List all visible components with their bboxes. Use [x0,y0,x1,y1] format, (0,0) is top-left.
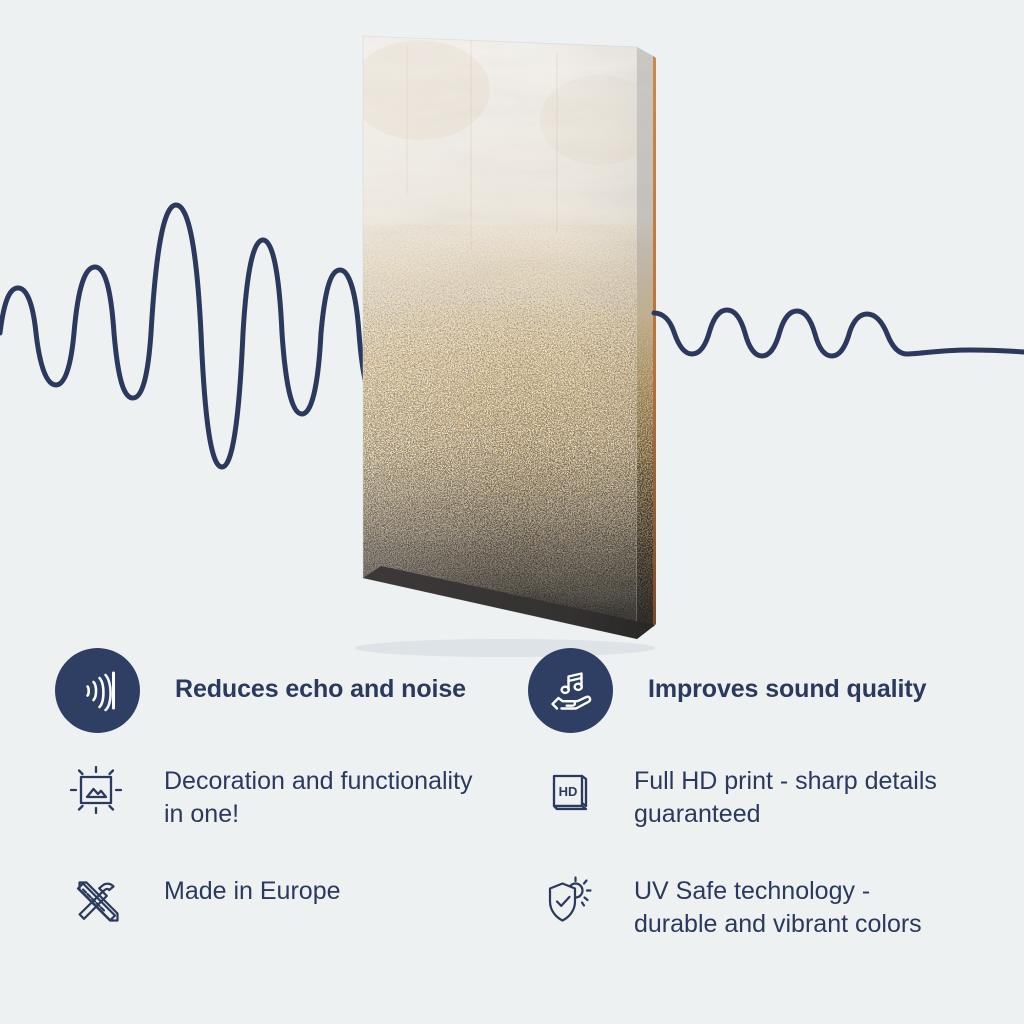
canvas-artwork [0,0,1024,700]
feature-label: Reduces echo and noise [175,674,466,705]
feature-row-secondary-2: Made in Europe [0,854,1024,964]
shield-sun-check-icon [534,866,606,938]
feature-decoration-functionality[interactable]: Decoration and functionality in one! [0,744,512,854]
feature-label: Full HD print - sharp details guaranteed [634,756,937,830]
feature-row-primary: Reduces echo and noise Improves sound qu… [0,636,1024,744]
feature-full-hd-print[interactable]: HD Full HD print - sharp details guarant… [512,744,1024,854]
feature-row-secondary-1: Decoration and functionality in one! HD … [0,744,1024,854]
feature-label: UV Safe technology - durable and vibrant… [634,866,922,940]
feature-made-in-europe[interactable]: Made in Europe [0,854,512,964]
feature-label: Improves sound quality [648,674,926,705]
feature-label: Decoration and functionality in one! [164,756,473,830]
hd-print-icon: HD [534,756,606,828]
ruler-hammer-icon [60,866,132,938]
feature-uv-safe[interactable]: UV Safe technology - durable and vibrant… [512,854,1024,964]
framed-picture-shine-icon [60,756,132,828]
feature-label: Made in Europe [164,866,341,908]
infographic-stage: Reduces echo and noise Improves sound qu… [0,0,1024,1024]
music-note-hand-icon [528,648,613,733]
feature-list: Reduces echo and noise Improves sound qu… [0,636,1024,964]
svg-text:HD: HD [559,784,578,799]
feature-improves-sound[interactable]: Improves sound quality [512,636,1024,744]
feature-reduces-echo[interactable]: Reduces echo and noise [0,636,512,744]
sound-waves-panel-icon [55,648,140,733]
